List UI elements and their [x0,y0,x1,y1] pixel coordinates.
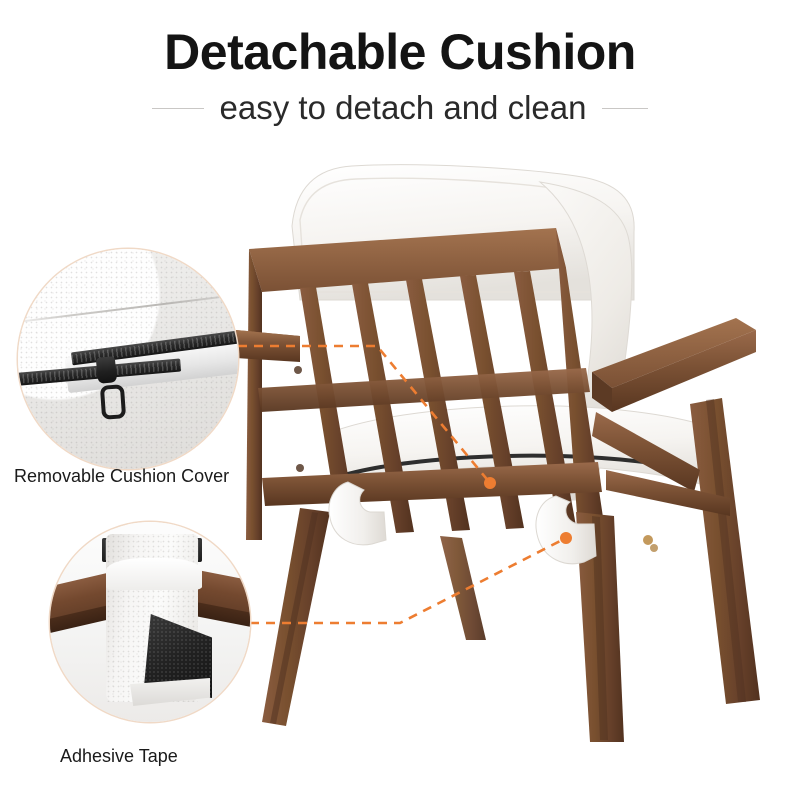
callout-label-adhesive-tape: Adhesive Tape [60,746,178,767]
zipper-closeup-image [18,249,238,469]
callout-circle-removable-cushion-cover [18,249,238,469]
fabric-strap-fold [106,558,202,590]
velcro-strap-closeup-image [50,522,250,722]
callout-circle-adhesive-tape [50,522,250,722]
chair-arm-left-rear [236,330,300,362]
infographic-canvas: Detachable Cushion easy to detach and cl… [0,0,800,800]
subtitle-rule-right [602,108,648,109]
zipper-slider [96,356,118,384]
page-subtitle: easy to detach and clean [220,88,587,128]
subtitle-row: easy to detach and clean [0,88,800,128]
callout-label-removable-cushion-cover: Removable Cushion Cover [14,466,229,487]
page-title: Detachable Cushion [0,22,800,82]
zipper-pull-tab [99,385,125,421]
subtitle-rule-left [152,108,204,109]
